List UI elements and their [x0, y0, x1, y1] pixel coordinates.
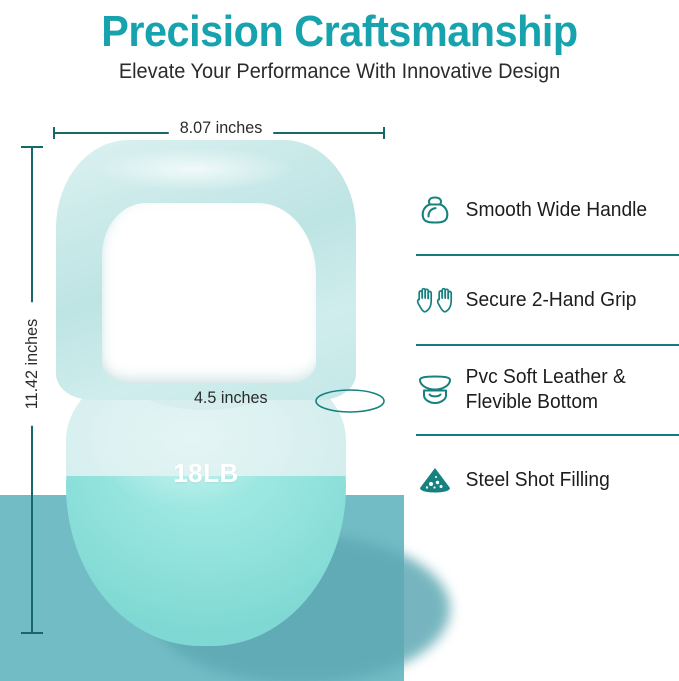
feature-item-secure-2-hand-grip[interactable]: Secure 2-Hand Grip: [408, 270, 679, 330]
grip-ellipse-icon: [314, 387, 386, 415]
feature-label: Smooth Wide Handle: [458, 198, 647, 223]
feature-item-smooth-wide-handle[interactable]: Smooth Wide Handle: [408, 180, 679, 240]
height-dimension-cap-bottom: [21, 632, 43, 634]
width-dimension-label: 8.07 inches: [169, 118, 274, 138]
feature-divider: [416, 434, 679, 436]
height-dimension: 11.42 inches: [26, 146, 38, 634]
feature-item-pvc-soft-leather[interactable]: Pvc Soft Leather & Flevible Bottom: [408, 360, 679, 420]
height-dimension-label: 11.42 inches: [22, 302, 42, 426]
handle-highlight: [86, 146, 326, 198]
feature-divider: [416, 254, 679, 256]
kettlebell-icon: [412, 187, 458, 233]
feature-label: Secure 2-Hand Grip: [458, 288, 636, 313]
width-dimension-cap-left: [53, 127, 55, 139]
feature-item-steel-shot-filling[interactable]: Steel Shot Filling: [408, 450, 679, 510]
page-subtitle: Elevate Your Performance With Innovative…: [17, 58, 662, 86]
steel-shot-pile-icon: [412, 457, 458, 503]
two-hands-icon: [412, 277, 458, 323]
height-dimension-cap-top: [21, 146, 43, 148]
infographic-canvas: Precision Craftsmanship Elevate Your Per…: [0, 0, 679, 681]
width-dimension: 8.07 inches: [53, 127, 385, 139]
feature-divider: [416, 344, 679, 346]
feature-label: Steel Shot Filling: [458, 468, 610, 493]
width-dimension-cap-right: [383, 127, 385, 139]
header: Precision Craftsmanship Elevate Your Per…: [0, 0, 679, 86]
handle-opening: [102, 203, 316, 383]
soft-leather-bottom-icon: [412, 367, 458, 413]
feature-label: Pvc Soft Leather & Flevible Bottom: [458, 365, 626, 415]
weight-label: 18LB: [56, 458, 356, 489]
page-title: Precision Craftsmanship: [20, 0, 658, 58]
product-scene: 18LB 8.07 inches 11.42 inches 4.5 inches: [0, 104, 404, 681]
grip-dimension-label: 4.5 inches: [194, 388, 268, 408]
feature-list: Smooth Wide Handle: [408, 180, 679, 510]
